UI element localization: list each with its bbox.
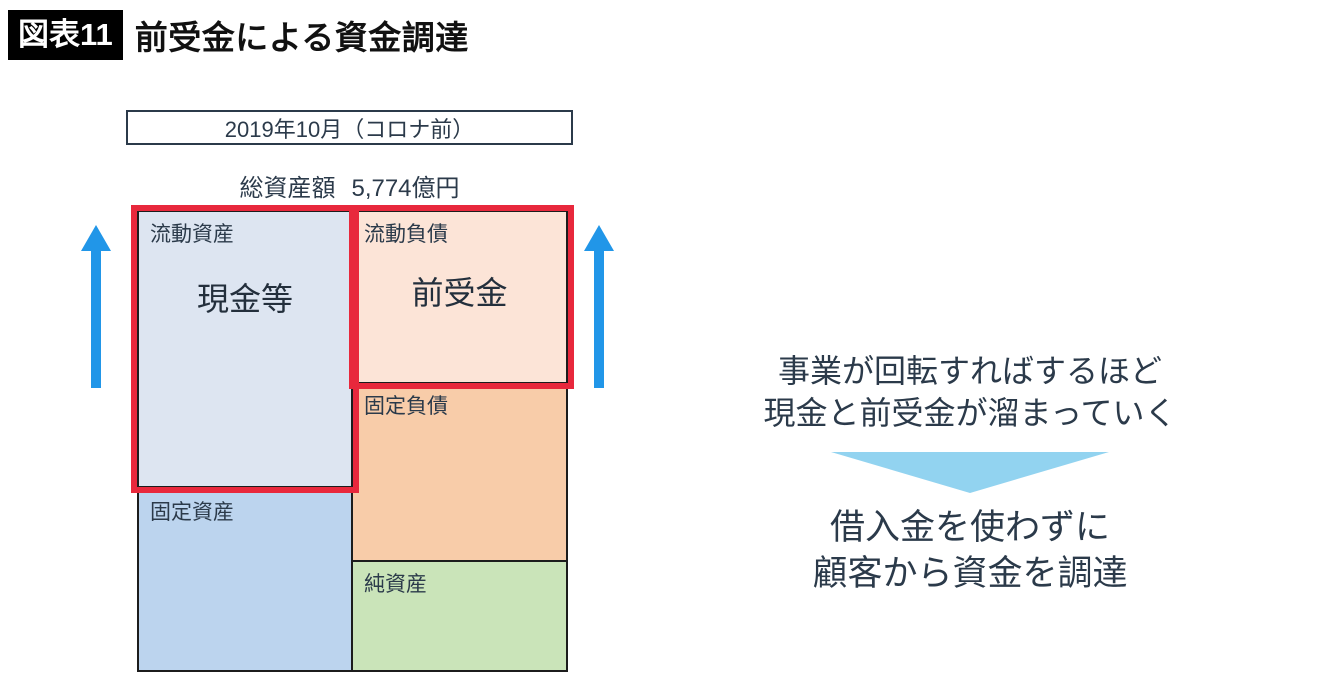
message-top: 事業が回転すればするほど 現金と前受金が溜まっていく <box>690 350 1250 434</box>
period-label: 2019年10月（コロナ前） <box>225 112 474 144</box>
block-current-liabilities-category: 流動負債 <box>364 218 448 248</box>
message-column: 事業が回転すればするほど 現金と前受金が溜まっていく 借入金を使わずに 顧客から… <box>690 350 1250 596</box>
block-fixed-assets-category: 固定資産 <box>150 496 234 526</box>
title-heading: 前受金による資金調達 <box>135 11 469 59</box>
page-title: 図表11 前受金による資金調達 <box>8 10 469 60</box>
block-net-assets: 純資産 <box>351 560 568 672</box>
up-arrow-icon-liabilities <box>583 225 615 393</box>
message-bottom: 借入金を使わずに 顧客から資金を調達 <box>690 505 1250 596</box>
total-assets-label: 総資産額 <box>239 168 335 203</box>
total-assets-row: 総資産額 5,774億円 <box>126 168 573 203</box>
figure-number-badge: 図表11 <box>8 10 123 60</box>
balance-sheet-diagram: 流動資産 現金等 固定資産 流動負債 前受金 固定負債 純資産 <box>137 210 568 672</box>
block-current-liabilities: 流動負債 前受金 <box>351 210 568 384</box>
down-arrow-icon <box>690 448 1250 493</box>
up-arrow-icon-assets <box>80 225 112 393</box>
block-fixed-liabilities-category: 固定負債 <box>364 390 448 420</box>
total-assets-value: 5,774億円 <box>351 168 459 203</box>
message-bottom-line2: 顧客から資金を調達 <box>690 551 1250 597</box>
message-top-line1: 事業が回転すればするほど <box>690 350 1250 392</box>
block-fixed-liabilities: 固定負債 <box>351 382 568 562</box>
block-current-assets-category: 流動資産 <box>150 218 234 248</box>
block-current-liabilities-name: 前受金 <box>353 268 566 314</box>
message-top-line2: 現金と前受金が溜まっていく <box>690 392 1250 434</box>
message-bottom-line1: 借入金を使わずに <box>690 505 1250 551</box>
period-caption-box: 2019年10月（コロナ前） <box>126 110 573 145</box>
block-current-assets-name: 現金等 <box>139 274 351 320</box>
block-current-assets: 流動資産 現金等 <box>137 210 353 488</box>
block-net-assets-category: 純資産 <box>364 568 427 598</box>
block-fixed-assets: 固定資産 <box>137 488 353 672</box>
